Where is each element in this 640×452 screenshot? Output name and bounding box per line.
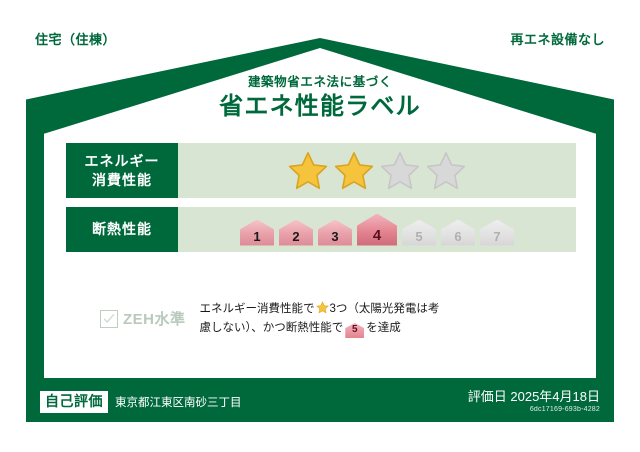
energy-performance-value: [178, 143, 576, 198]
zeh-description: エネルギー消費性能で3つ（太陽光発電は考慮しない）、かつ断熱性能で5を達成: [200, 300, 440, 338]
insulation-grade-scale: 1234567: [240, 214, 514, 246]
zeh-desc-part3: を達成: [366, 322, 401, 334]
checkbox-check-icon: [103, 313, 115, 325]
renewable-equipment-tag: 再エネ設備なし: [501, 28, 614, 52]
star-icon: [378, 150, 422, 192]
star-icon: [332, 150, 376, 192]
insulation-grade-7: 7: [480, 220, 514, 246]
zeh-label: ZEH水準: [123, 308, 186, 329]
energy-performance-row: エネルギー 消費性能: [66, 143, 576, 198]
energy-performance-label: 住宅（住棟） 再エネ設備なし 建築物省エネ法に基づく 省エネ性能ラベル エネルギ…: [0, 0, 640, 452]
evaluation-id: 6dc17169-693b-4282: [468, 405, 600, 414]
star-rating: [286, 150, 468, 192]
star-icon: [316, 301, 329, 314]
metrics-container: エネルギー 消費性能 断熱性能 1234567: [66, 143, 576, 261]
energy-label-line2: 消費性能: [92, 171, 152, 190]
zeh-tag: ZEH水準: [100, 308, 186, 329]
insulation-grade-6: 6: [441, 220, 475, 246]
footer-right-block: 評価日 2025年4月18日 6dc17169-693b-4282: [468, 390, 600, 414]
insulation-grade-4: 4: [357, 214, 397, 246]
star-icon: [424, 150, 468, 192]
evaluation-date: 評価日 2025年4月18日: [468, 390, 600, 405]
insulation-grade-2: 2: [279, 220, 313, 246]
evaluation-date-value: 2025年4月18日: [510, 389, 600, 404]
zeh-checkbox: [100, 310, 118, 328]
insulation-grade-5: 5: [402, 220, 436, 246]
energy-performance-label: エネルギー 消費性能: [66, 143, 178, 198]
self-evaluation-badge: 自己評価: [40, 391, 108, 412]
zeh-desc-grade: 5: [345, 323, 364, 338]
zeh-standard-note: ZEH水準 エネルギー消費性能で3つ（太陽光発電は考慮しない）、かつ断熱性能で5…: [100, 300, 440, 338]
property-address: 東京都江東区南砂三丁目: [115, 394, 242, 410]
insulation-performance-label: 断熱性能: [66, 207, 178, 252]
label-footer: 自己評価 東京都江東区南砂三丁目 評価日 2025年4月18日 6dc17169…: [26, 382, 614, 422]
insulation-performance-value: 1234567: [178, 207, 576, 252]
star-icon: [286, 150, 330, 192]
insulation-grade-1: 1: [240, 220, 274, 246]
zeh-desc-part1: エネルギー消費性能で: [200, 303, 315, 315]
insulation-grade-3: 3: [318, 220, 352, 246]
evaluation-date-label: 評価日: [468, 389, 507, 404]
building-type-tag: 住宅（住棟）: [26, 28, 125, 52]
energy-label-line1: エネルギー: [85, 152, 160, 171]
insulation-performance-row: 断熱性能 1234567: [66, 207, 576, 252]
